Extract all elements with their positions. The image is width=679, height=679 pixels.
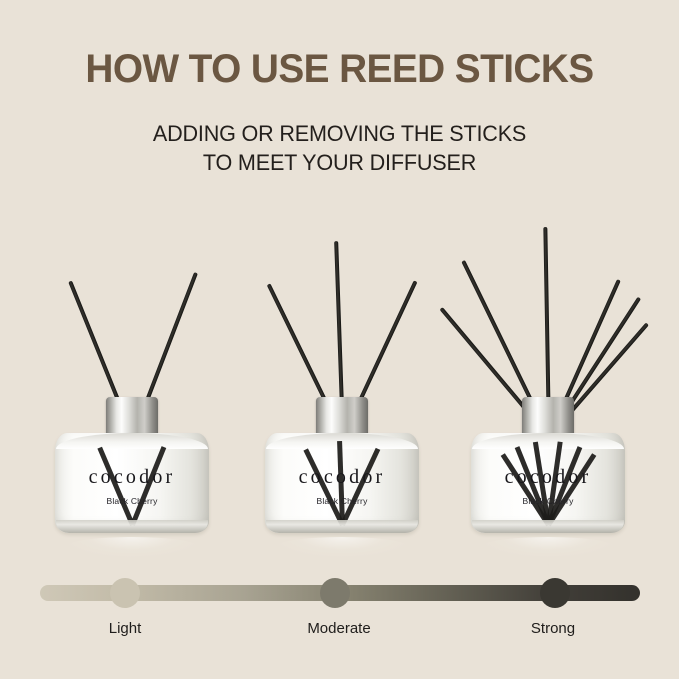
scale-label-strong: Strong	[531, 620, 575, 637]
scale-knob-moderate[interactable]	[320, 578, 350, 608]
diffuser-bottle: cocodor Black Cherry	[55, 433, 209, 537]
glass-top-ellipse	[56, 433, 208, 449]
infographic-canvas: HOW TO USE REED STICKS ADDING OR REMOVIN…	[0, 0, 679, 679]
diffuser-light: cocodor Black Cherry	[27, 215, 237, 565]
bottle-glass: cocodor Black Cherry	[471, 433, 625, 533]
intensity-scale-bar[interactable]	[40, 585, 640, 601]
scale-label-moderate: Moderate	[307, 620, 370, 637]
page-title: HOW TO USE REED STICKS	[10, 48, 669, 90]
intensity-scale-labels: Light Moderate Strong	[0, 620, 679, 644]
bottle-reflection	[275, 537, 409, 557]
brand-name: cocodor	[55, 467, 209, 487]
bottle-cap	[522, 397, 574, 437]
scale-knob-strong[interactable]	[540, 578, 570, 608]
subtitle-line-1: ADDING OR REMOVING THE STICKS	[153, 121, 526, 146]
product-row: cocodor Black Cherry	[0, 215, 679, 565]
bottle-cap	[316, 397, 368, 437]
bottle-base	[56, 520, 208, 533]
bottle-base	[472, 520, 624, 533]
subtitle-line-2: TO MEET YOUR DIFFUSER	[14, 149, 666, 178]
bottle-reflection	[65, 537, 199, 557]
diffuser-moderate: cocodor Black Cherry	[237, 215, 447, 565]
bottle-cap	[106, 397, 158, 437]
bottle-label: cocodor Black Cherry	[55, 467, 209, 506]
glass-top-ellipse	[472, 433, 624, 449]
diffuser-bottle: cocodor Black Cherry	[265, 433, 419, 537]
scent-name: Black Cherry	[471, 496, 625, 506]
scent-name: Black Cherry	[265, 496, 419, 506]
brand-name: cocodor	[471, 467, 625, 487]
bottle-glass: cocodor Black Cherry	[265, 433, 419, 533]
page-subtitle: ADDING OR REMOVING THE STICKS TO MEET YO…	[14, 120, 666, 178]
diffuser-bottle: cocodor Black Cherry	[471, 433, 625, 537]
bottle-label: cocodor Black Cherry	[265, 467, 419, 506]
scent-name: Black Cherry	[55, 496, 209, 506]
scale-label-light: Light	[109, 620, 142, 637]
bottle-reflection	[481, 537, 615, 557]
diffuser-strong: cocodor Black Cherry	[443, 215, 653, 565]
brand-name: cocodor	[265, 467, 419, 487]
bottle-label: cocodor Black Cherry	[471, 467, 625, 506]
bottle-glass: cocodor Black Cherry	[55, 433, 209, 533]
scale-knob-light[interactable]	[110, 578, 140, 608]
bottle-base	[266, 520, 418, 533]
